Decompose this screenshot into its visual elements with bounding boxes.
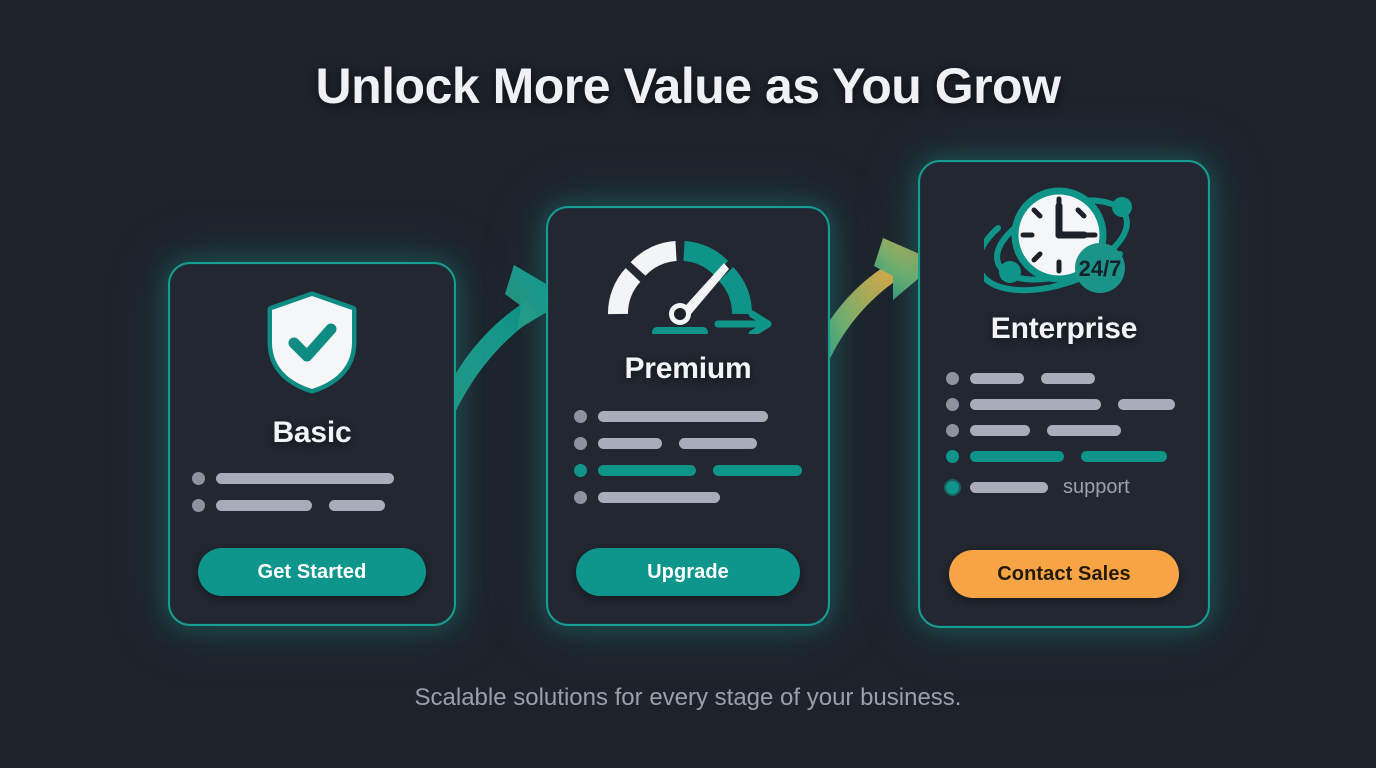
placeholder-bar — [713, 465, 802, 476]
placeholder-bar — [970, 482, 1048, 493]
feature-row — [946, 372, 1182, 385]
support-label: support — [1063, 476, 1130, 499]
feature-list-basic — [170, 472, 454, 526]
placeholder-bar — [1041, 373, 1095, 384]
bullet-icon — [946, 424, 959, 437]
bullet-icon — [192, 472, 205, 485]
placeholder-bar — [1081, 451, 1167, 462]
feature-row — [946, 424, 1182, 437]
bullet-icon — [946, 450, 959, 463]
placeholder-bar — [598, 465, 696, 476]
bullet-icon — [574, 491, 587, 504]
pricing-tiers-infographic: Unlock More Value as You Grow — [0, 0, 1376, 768]
placeholder-bar — [329, 500, 385, 511]
placeholder-bar — [970, 425, 1030, 436]
tier-title-basic: Basic — [272, 416, 351, 450]
feature-row — [192, 499, 432, 512]
tier-title-enterprise: Enterprise — [991, 312, 1137, 346]
feature-row-support: support — [946, 476, 1182, 499]
tier-card-enterprise[interactable]: 24/7 Enterprise — [918, 160, 1210, 628]
placeholder-bar — [1118, 399, 1175, 410]
bullet-icon — [946, 372, 959, 385]
bullet-icon — [946, 481, 959, 494]
placeholder-bar — [216, 500, 312, 511]
tier-title-premium: Premium — [625, 352, 752, 386]
tier-card-basic[interactable]: Basic Get Started — [168, 262, 456, 626]
badge-24-7-label: 24/7 — [1079, 256, 1122, 281]
placeholder-bar — [970, 373, 1024, 384]
placeholder-bar — [216, 473, 394, 484]
placeholder-bar — [970, 451, 1064, 462]
bullet-icon — [574, 437, 587, 450]
feature-list-enterprise: support — [920, 372, 1208, 512]
feature-row-highlighted — [946, 450, 1182, 463]
feature-list-premium — [548, 410, 828, 518]
shield-check-icon — [170, 290, 454, 394]
tier-card-premium[interactable]: Premium Upgrade — [546, 206, 830, 626]
feature-row-highlighted — [574, 464, 802, 477]
placeholder-bar — [970, 399, 1101, 410]
feature-row — [574, 410, 802, 423]
page-caption: Scalable solutions for every stage of yo… — [0, 684, 1376, 712]
get-started-button[interactable]: Get Started — [198, 548, 426, 596]
placeholder-bar — [679, 438, 757, 449]
bullet-icon — [574, 410, 587, 423]
feature-row — [192, 472, 432, 485]
upgrade-button[interactable]: Upgrade — [576, 548, 800, 596]
placeholder-bar — [598, 411, 768, 422]
placeholder-bar — [598, 438, 662, 449]
page-title: Unlock More Value as You Grow — [0, 57, 1376, 115]
feature-row — [946, 398, 1182, 411]
feature-row — [574, 491, 802, 504]
contact-sales-button[interactable]: Contact Sales — [949, 550, 1179, 598]
feature-row — [574, 437, 802, 450]
bullet-icon — [946, 398, 959, 411]
bullet-icon — [192, 499, 205, 512]
bullet-icon — [574, 464, 587, 477]
speedometer-icon — [548, 234, 828, 334]
clock-orbit-icon: 24/7 — [920, 180, 1208, 298]
placeholder-bar — [1047, 425, 1121, 436]
placeholder-bar — [598, 492, 720, 503]
